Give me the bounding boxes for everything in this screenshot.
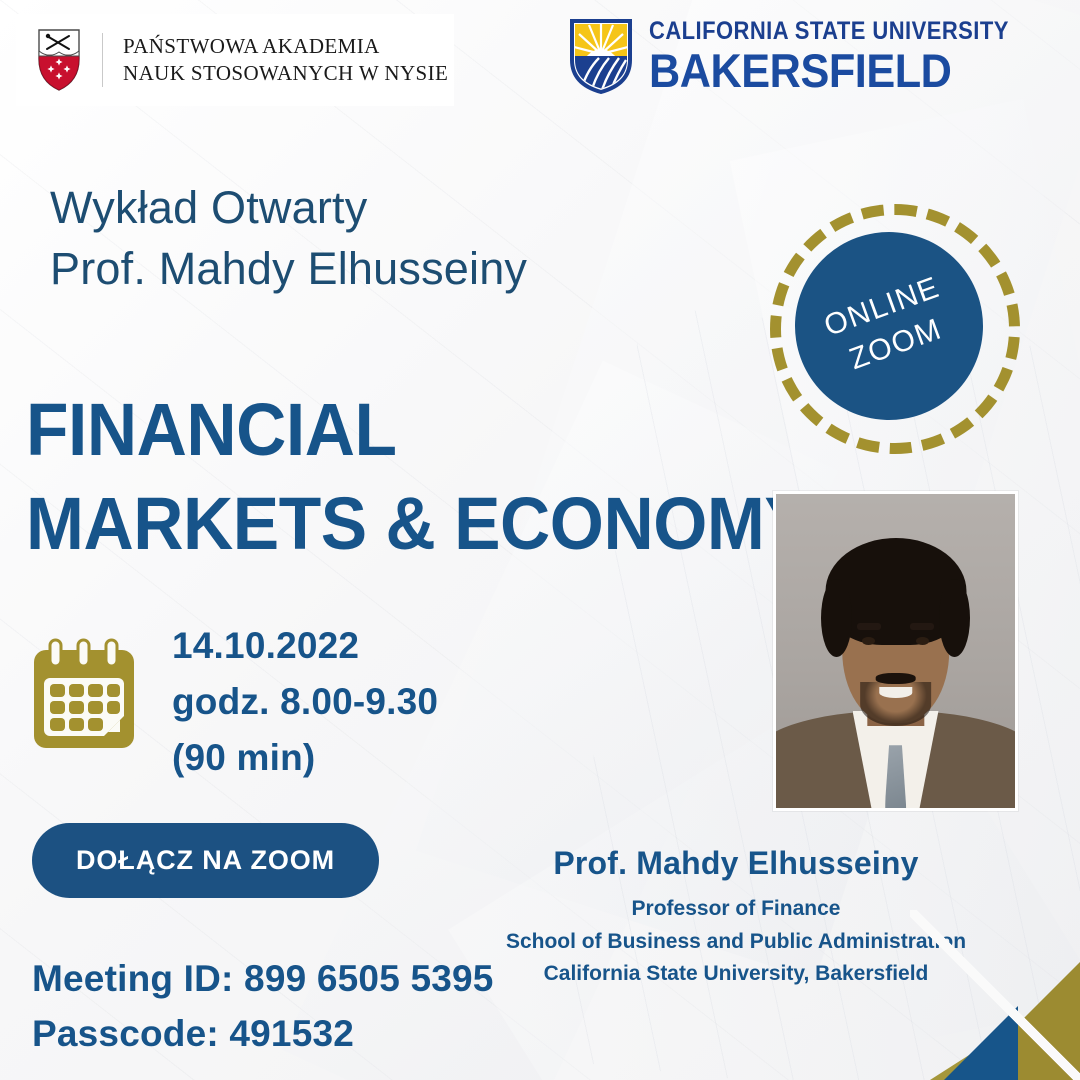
pans-crest-icon — [38, 29, 80, 91]
pans-wordmark: PAŃSTWOWA AKADEMIA NAUK STOSOWANYCH W NY… — [123, 33, 448, 87]
headline-line2: MARKETS & ECONOMY — [26, 477, 810, 571]
csub-sun-shield-icon — [569, 18, 633, 94]
event-duration: (90 min) — [172, 730, 438, 786]
online-zoom-badge: ONLINE ZOOM — [762, 196, 1032, 461]
poster-canvas: PAŃSTWOWA AKADEMIA NAUK STOSOWANYCH W NY… — [0, 0, 1080, 1080]
csub-wordmark-line1: CALIFORNIA STATE UNIVERSITY — [649, 19, 1009, 44]
page-title: FINANCIAL MARKETS & ECONOMY — [26, 383, 810, 571]
logo-csu-bakersfield: CALIFORNIA STATE UNIVERSITY BAKERSFIELD — [569, 18, 1058, 94]
event-date: 14.10.2022 — [172, 618, 438, 674]
pans-wordmark-line2: NAUK STOSOWANYCH W NYSIE — [123, 60, 448, 87]
csub-wordmark-line2: BAKERSFIELD — [649, 47, 1025, 94]
logo-divider — [102, 33, 103, 87]
speaker-name: Prof. Mahdy Elhusseiny — [416, 845, 1056, 882]
corner-decoration-slash — [910, 910, 1080, 1080]
passcode: Passcode: 491532 — [32, 1007, 494, 1062]
calendar-icon — [30, 636, 138, 754]
speaker-photo — [773, 491, 1018, 811]
logo-panstwowa-akademia: PAŃSTWOWA AKADEMIA NAUK STOSOWANYCH W NY… — [16, 14, 454, 106]
pans-wordmark-line1: PAŃSTWOWA AKADEMIA — [123, 33, 448, 60]
event-time: godz. 8.00-9.30 — [172, 674, 438, 730]
headline-line1: FINANCIAL — [26, 383, 810, 477]
join-zoom-button[interactable]: DOŁĄCZ NA ZOOM — [32, 823, 379, 898]
lecture-kicker: Wykład Otwarty Prof. Mahdy Elhusseiny — [50, 178, 527, 300]
event-datetime-text: 14.10.2022 godz. 8.00-9.30 (90 min) — [172, 618, 438, 787]
event-datetime-block: 14.10.2022 godz. 8.00-9.30 (90 min) — [30, 618, 438, 787]
kicker-line2: Prof. Mahdy Elhusseiny — [50, 239, 527, 300]
speaker-portrait-image — [776, 494, 1015, 808]
csub-wordmark: CALIFORNIA STATE UNIVERSITY BAKERSFIELD — [649, 19, 1058, 94]
kicker-line1: Wykład Otwarty — [50, 178, 527, 239]
